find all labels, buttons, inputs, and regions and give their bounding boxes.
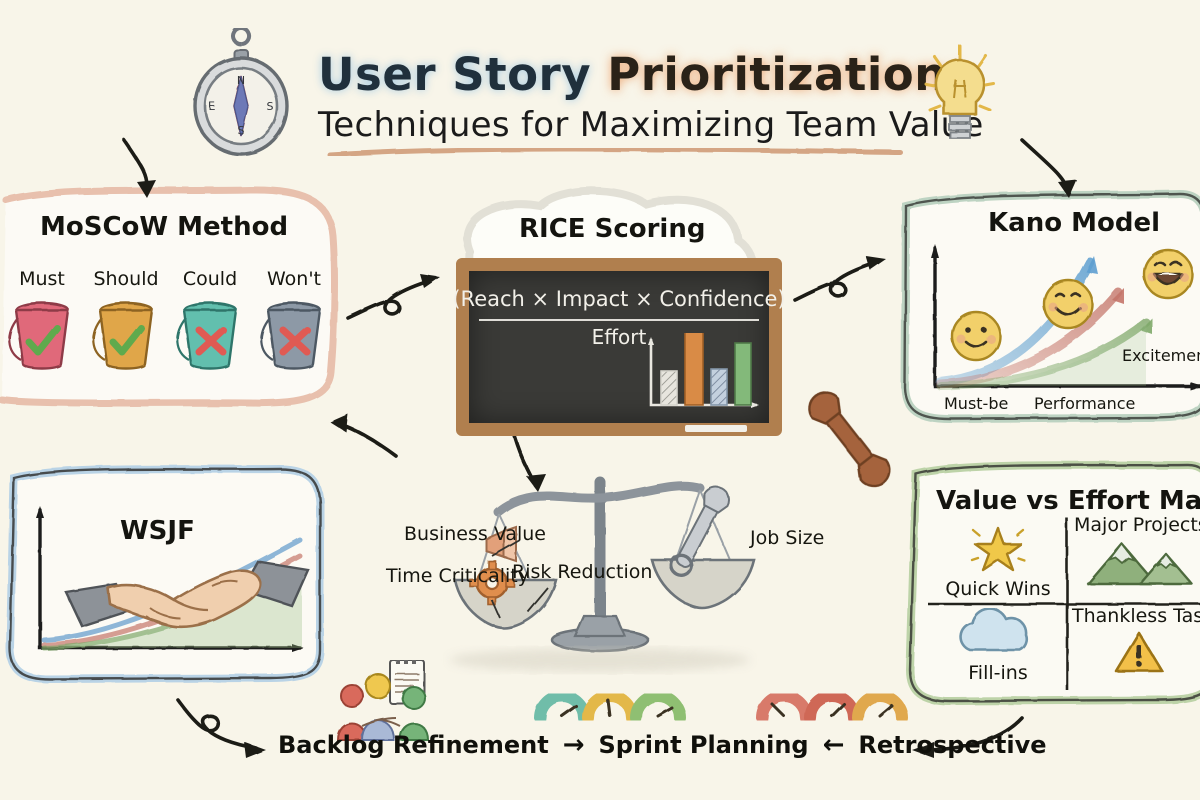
rice-bar-4 bbox=[735, 343, 751, 405]
warning-icon bbox=[1112, 629, 1166, 675]
wrench-icon bbox=[803, 386, 896, 492]
arrow-rice-to-scale bbox=[512, 428, 536, 486]
arrow-wsjf-to-backlog bbox=[178, 700, 256, 748]
moscow-buckets: Must Should Could bbox=[0, 268, 336, 378]
page-title: User Story Prioritization: bbox=[318, 48, 965, 101]
gauges-red-icon bbox=[756, 672, 908, 730]
matrix-quadrant-label-text: Thankless Tasks bbox=[1072, 605, 1200, 627]
rice-chalkboard: (Reach × Impact × Confidence) Effort bbox=[456, 258, 782, 436]
moscow-title: MoSCoW Method bbox=[40, 212, 288, 242]
bucket-icon bbox=[173, 290, 247, 374]
process-flow: Backlog Refinement → Sprint Planning ← R… bbox=[278, 730, 1047, 760]
scale-wrench-icon bbox=[665, 482, 733, 580]
matrix-quadrant-fill-ins[interactable]: Fill-ins bbox=[938, 608, 1058, 684]
page-subtitle: Techniques for Maximizing Team Value bbox=[318, 105, 984, 145]
scale-label-business-value: Business Value bbox=[404, 524, 546, 545]
bucket-label: Should bbox=[87, 268, 165, 290]
scale-label-job-size: Job Size bbox=[750, 528, 824, 549]
smiley-grin-icon bbox=[1140, 246, 1196, 302]
matrix-quadrant-thankless-tasks[interactable]: Thankless Tasks bbox=[1072, 606, 1200, 678]
gauges-icon bbox=[534, 672, 686, 730]
moscow-bucket-could[interactable]: Could bbox=[171, 268, 249, 378]
svg-text:S: S bbox=[238, 124, 245, 137]
kano-x-label-excitement: Excitement bbox=[1122, 346, 1200, 365]
kano-x-label-performance: Performance bbox=[1034, 394, 1135, 413]
cloud-icon bbox=[950, 608, 1046, 658]
title-part-1: User Story bbox=[318, 48, 607, 101]
matrix-quadrant-label: Fill-ins bbox=[938, 662, 1058, 684]
arrow-moscow-to-rice bbox=[348, 280, 432, 318]
scale-label-time-criticality: Time Criticality bbox=[386, 566, 529, 587]
scale-label-text: Risk Reduction bbox=[512, 561, 652, 583]
arrow-rice-to-kano bbox=[795, 262, 878, 300]
rice-bar-chart bbox=[637, 333, 763, 419]
title-underline bbox=[330, 149, 900, 155]
bucket-label: Must bbox=[3, 268, 81, 290]
scale-label-text: Job Size bbox=[750, 527, 824, 549]
scale-label-text: Time Criticality bbox=[386, 565, 529, 587]
matrix-quadrant-quick-wins[interactable]: Quick Wins bbox=[936, 520, 1060, 600]
infographic-canvas: User Story Prioritization: Techniques fo… bbox=[0, 0, 1200, 800]
scale-label-risk-reduction: Risk Reduction bbox=[512, 562, 652, 583]
rice-bar-1 bbox=[661, 371, 677, 405]
rice-bar-3 bbox=[711, 369, 727, 405]
rice-formula-numerator: (Reach × Impact × Confidence) bbox=[452, 287, 785, 311]
mountain-icon bbox=[1084, 536, 1196, 588]
title-part-2: Prioritization: bbox=[607, 48, 965, 101]
bucket-icon bbox=[257, 290, 331, 374]
compass-icon: N S E S bbox=[186, 28, 296, 158]
bucket-label: Won't bbox=[255, 268, 333, 290]
flow-step-backlog-refinement[interactable]: Backlog Refinement bbox=[278, 731, 549, 759]
chalk-stick bbox=[685, 425, 747, 432]
bucket-icon bbox=[89, 290, 163, 374]
flow-arrow-right-icon: → bbox=[563, 730, 585, 760]
lightbulb-icon bbox=[920, 40, 1000, 160]
arrow-bulb-to-kano bbox=[1022, 140, 1068, 192]
handshake-icon bbox=[62, 530, 312, 660]
flow-arrow-left-icon: ← bbox=[823, 730, 845, 760]
matrix-quadrant-label: Quick Wins bbox=[936, 578, 1060, 600]
matrix-quadrant-label: Major Projects bbox=[1074, 514, 1200, 536]
flow-step-sprint-planning[interactable]: Sprint Planning bbox=[598, 731, 808, 759]
kano-x-label-must-be: Must-be bbox=[944, 394, 1008, 413]
matrix-title: Value vs Effort Matrix bbox=[936, 486, 1200, 516]
rice-title: RICE Scoring bbox=[519, 214, 705, 244]
matrix-quadrant-label: Thankless Tasks bbox=[1072, 606, 1200, 627]
bucket-icon bbox=[5, 290, 79, 374]
bucket-label: Could bbox=[171, 268, 249, 290]
star-icon bbox=[969, 520, 1027, 574]
arrow-compass-to-moscow bbox=[124, 140, 147, 192]
flow-step-retrospective[interactable]: Retrospective bbox=[858, 731, 1046, 759]
moscow-bucket-must[interactable]: Must bbox=[3, 268, 81, 378]
moscow-bucket-wont[interactable]: Won't bbox=[255, 268, 333, 378]
rice-bar-2 bbox=[685, 333, 703, 405]
moscow-bucket-should[interactable]: Should bbox=[87, 268, 165, 378]
svg-text:S: S bbox=[267, 100, 274, 113]
matrix-quadrant-major-projects[interactable]: Major Projects bbox=[1074, 514, 1200, 592]
kano-title: Kano Model bbox=[988, 208, 1160, 238]
smiley-slight-icon bbox=[948, 308, 1004, 364]
smiley-smile-icon bbox=[1040, 276, 1096, 332]
svg-text:E: E bbox=[209, 100, 216, 113]
rice-formula-bar bbox=[479, 319, 759, 321]
scale-label-text: Business Value bbox=[404, 523, 546, 545]
arrow-scale-to-moscow bbox=[340, 424, 396, 456]
svg-text:N: N bbox=[237, 74, 245, 87]
